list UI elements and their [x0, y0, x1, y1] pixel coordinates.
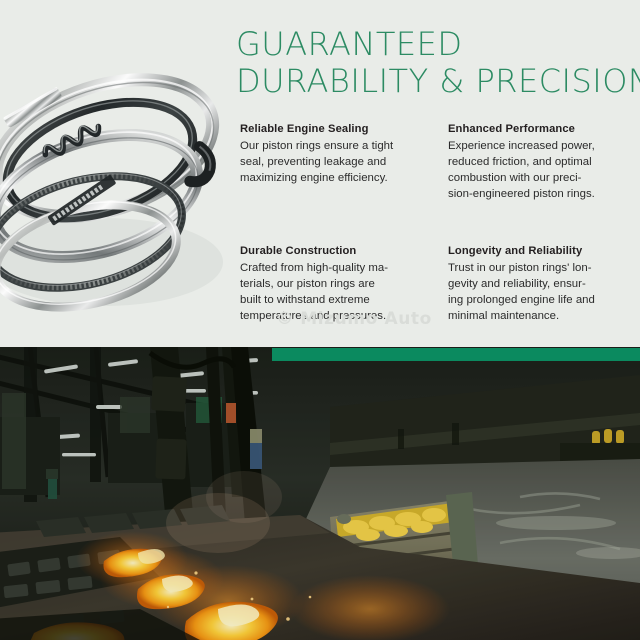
feature-grid: Reliable Engine Sealing Our piston rings… [240, 122, 636, 325]
promo-page: GUARANTEED DURABILITY & PRECISION Reliab… [0, 0, 640, 640]
feature-body-line: temperatures and pressures. [240, 308, 426, 324]
feature-row-2: Durable Construction Crafted from high-q… [240, 244, 636, 324]
feature-body-line: gevity and reliability, ensur- [448, 276, 636, 292]
feature-body-line: Experience increased power, [448, 138, 636, 154]
feature-body-line: Crafted from high-quality ma- [240, 260, 426, 276]
feature-heading: Enhanced Performance [448, 122, 636, 137]
headline-line-1: GUARANTEED [236, 28, 636, 61]
feature-heading: Reliable Engine Sealing [240, 122, 426, 137]
feature-body: Trust in our piston rings' lon- gevity a… [448, 260, 636, 325]
feature-body-line: combustion with our preci- [448, 170, 636, 186]
feature-enhanced-performance: Enhanced Performance Experience increase… [448, 122, 636, 202]
feature-body-line: sion-engineered piston rings. [448, 186, 636, 202]
feature-body-line: minimal maintenance. [448, 308, 636, 324]
feature-row-1: Reliable Engine Sealing Our piston rings… [240, 122, 636, 202]
headline-line-2: DURABILITY & PRECISION [236, 65, 636, 98]
feature-body-line: built to withstand extreme [240, 292, 426, 308]
feature-body-line: ing prolonged engine life and [448, 292, 636, 308]
feature-body-line: Our piston rings ensure a tight [240, 138, 426, 154]
product-image-piston-rings [0, 0, 232, 340]
headline: GUARANTEED DURABILITY & PRECISION [236, 28, 636, 98]
feature-heading: Longevity and Reliability [448, 244, 636, 259]
green-accent-bar [272, 348, 640, 361]
feature-body: Our piston rings ensure a tight seal, pr… [240, 138, 426, 187]
top-section: GUARANTEED DURABILITY & PRECISION Reliab… [0, 0, 640, 348]
feature-body-line: seal, preventing leakage and [240, 154, 426, 170]
factory-photo [0, 347, 640, 640]
feature-body: Experience increased power, reduced fric… [448, 138, 636, 203]
feature-body-line: terials, our piston rings are [240, 276, 426, 292]
feature-body-line: reduced friction, and optimal [448, 154, 636, 170]
feature-body-line: maximizing engine efficiency. [240, 170, 426, 186]
feature-body-line: Trust in our piston rings' lon- [448, 260, 636, 276]
feature-durable-construction: Durable Construction Crafted from high-q… [240, 244, 426, 324]
feature-reliable-engine-sealing: Reliable Engine Sealing Our piston rings… [240, 122, 426, 202]
feature-longevity-and-reliability: Longevity and Reliability Trust in our p… [448, 244, 636, 324]
feature-body: Crafted from high-quality ma- terials, o… [240, 260, 426, 325]
feature-heading: Durable Construction [240, 244, 426, 259]
